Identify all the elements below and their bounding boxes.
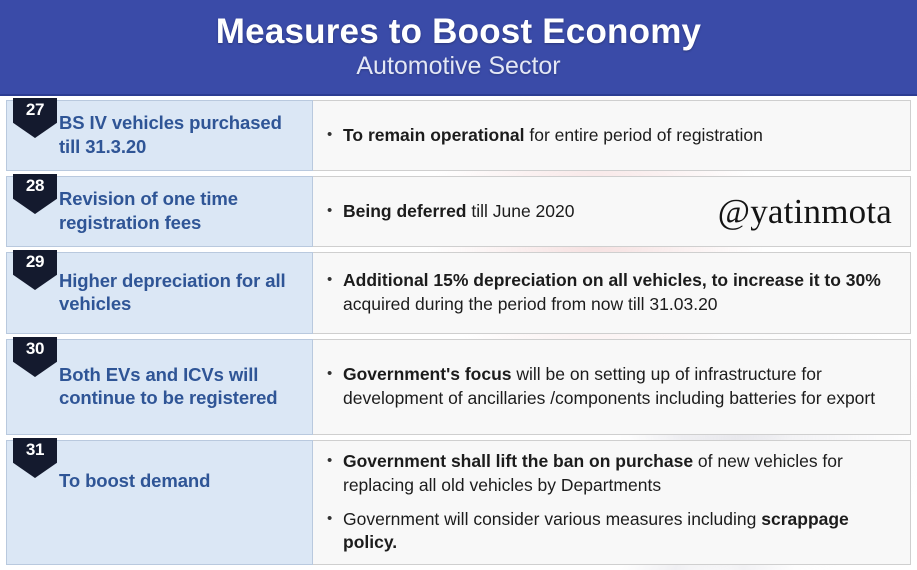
bullet-text: Government's focus will be on setting up… — [343, 363, 898, 411]
detail-cell-29: • Additional 15% depreciation on all veh… — [313, 252, 911, 334]
detail-cell-30: • Government's focus will be on setting … — [313, 339, 911, 435]
detail-cell-28: • Being deferred till June 2020 @yatinmo… — [313, 176, 911, 247]
table-row: 30 Both EVs and ICVs will continue to be… — [6, 339, 911, 435]
number-badge-icon: 29 — [13, 250, 57, 290]
measure-label: BS IV vehicles purchased till 31.3.20 — [59, 111, 304, 158]
measure-label: Both EVs and ICVs will continue to be re… — [59, 363, 304, 410]
measure-label: Higher depreciation for all vehicles — [59, 269, 304, 316]
measures-table: 27 BS IV vehicles purchased till 31.3.20… — [0, 96, 917, 565]
bullet-text: Additional 15% depreciation on all vehic… — [343, 269, 898, 317]
table-row: 29 Higher depreciation for all vehicles … — [6, 252, 911, 334]
table-row: 27 BS IV vehicles purchased till 31.3.20… — [6, 100, 911, 171]
author-watermark: @yatinmota — [718, 192, 892, 232]
list-item: • Government shall lift the ban on purch… — [327, 450, 898, 498]
measure-cell-31: 31 To boost demand — [6, 440, 313, 565]
bullet-dot-icon: • — [327, 508, 343, 531]
detail-cell-31: • Government shall lift the ban on purch… — [313, 440, 911, 565]
bullet-text: To remain operational for entire period … — [343, 124, 898, 148]
number-badge-icon: 31 — [13, 438, 57, 478]
table-row: 31 To boost demand • Government shall li… — [6, 440, 911, 565]
bullet-dot-icon: • — [327, 124, 343, 147]
badge-number: 31 — [26, 441, 44, 458]
list-item: • Government will consider various measu… — [327, 508, 898, 556]
page-title: Measures to Boost Economy — [216, 14, 701, 50]
measure-cell-30: 30 Both EVs and ICVs will continue to be… — [6, 339, 313, 435]
number-badge-icon: 30 — [13, 337, 57, 377]
slide-header: Measures to Boost Economy Automotive Sec… — [0, 0, 917, 96]
bullet-dot-icon: • — [327, 450, 343, 473]
number-badge-icon: 27 — [13, 98, 57, 138]
bullet-dot-icon: • — [327, 269, 343, 292]
badge-number: 30 — [26, 340, 44, 357]
measure-cell-28: 28 Revision of one time registration fee… — [6, 176, 313, 247]
detail-cell-27: • To remain operational for entire perio… — [313, 100, 911, 171]
table-row: 28 Revision of one time registration fee… — [6, 176, 911, 247]
bullet-dot-icon: • — [327, 200, 343, 223]
measure-label: To boost demand — [59, 469, 210, 492]
number-badge-icon: 28 — [13, 174, 57, 214]
page-subtitle: Automotive Sector — [356, 52, 560, 80]
badge-number: 29 — [26, 253, 44, 270]
bullet-text: Government shall lift the ban on purchas… — [343, 450, 898, 498]
measure-cell-29: 29 Higher depreciation for all vehicles — [6, 252, 313, 334]
list-item: • Additional 15% depreciation on all veh… — [327, 269, 898, 317]
bullet-text: Government will consider various measure… — [343, 508, 898, 556]
list-item: • To remain operational for entire perio… — [327, 124, 898, 148]
measure-label: Revision of one time registration fees — [59, 187, 304, 234]
measure-cell-27: 27 BS IV vehicles purchased till 31.3.20 — [6, 100, 313, 171]
list-item: • Government's focus will be on setting … — [327, 363, 898, 411]
badge-number: 27 — [26, 101, 44, 118]
bullet-dot-icon: • — [327, 363, 343, 386]
badge-number: 28 — [26, 177, 44, 194]
